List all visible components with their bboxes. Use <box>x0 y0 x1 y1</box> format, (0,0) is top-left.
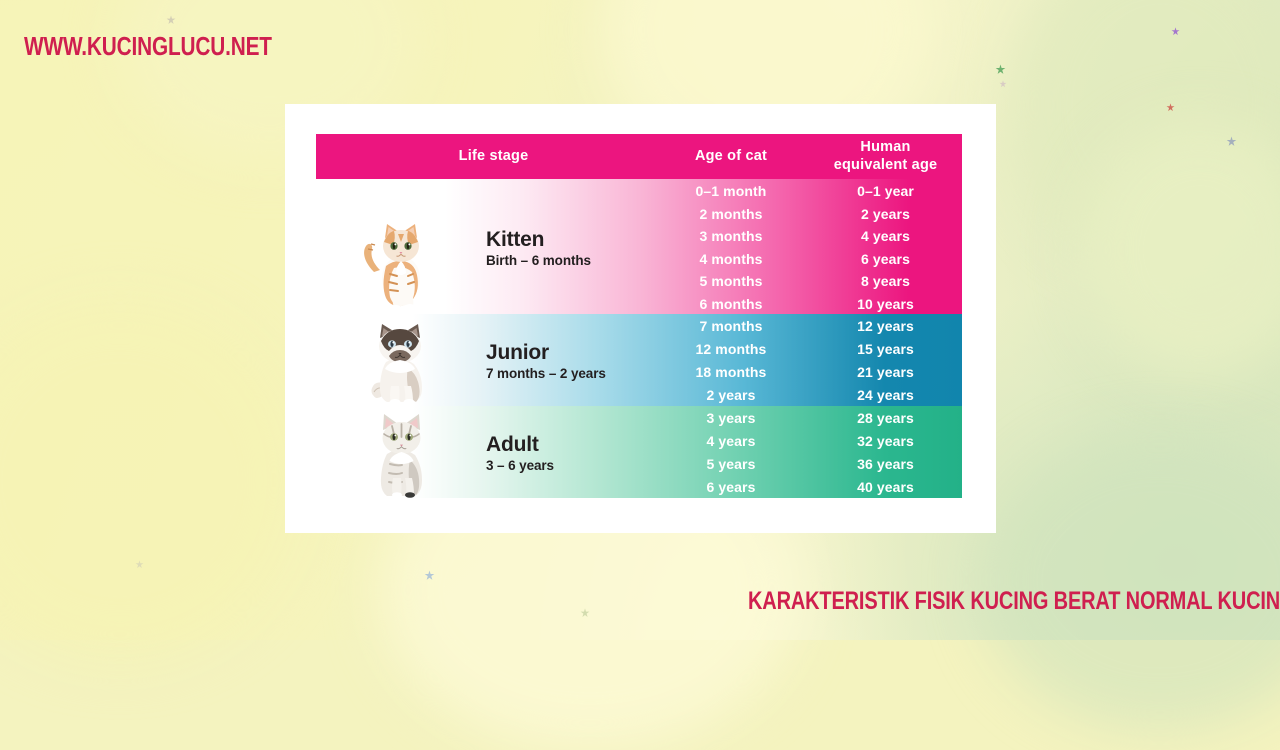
life-stage-cell: Adult 3 – 6 years <box>316 406 653 498</box>
human-equivalent-age-value: 40 years <box>809 476 962 498</box>
table-group-junior: Junior 7 months – 2 years 7 months12 mon… <box>316 314 962 406</box>
human-equivalent-age-value: 21 years <box>809 361 962 384</box>
column-header-age-of-cat: Age of cat <box>653 148 809 165</box>
orange-tabby-kitten-standing-icon <box>360 216 438 312</box>
sparkle-star-icon <box>1171 27 1180 36</box>
sparkle-star-icon <box>424 570 435 581</box>
age-of-cat-value: 3 months <box>653 225 809 248</box>
life-stage-text: Adult 3 – 6 years <box>486 434 554 473</box>
ragdoll-colorpoint-cat-sitting-icon <box>364 316 438 406</box>
life-stage-range: Birth – 6 months <box>486 253 591 268</box>
age-of-cat-value: 4 years <box>653 430 809 453</box>
column-header-line: Human <box>809 139 962 156</box>
life-stage-text: Junior 7 months – 2 years <box>486 342 606 381</box>
site-watermark-top: WWW.KUCINGLUCU.NET <box>24 31 272 62</box>
human-equivalent-age-value: 6 years <box>809 248 962 271</box>
life-stage-range: 3 – 6 years <box>486 458 554 473</box>
sparkle-star-icon <box>995 64 1006 75</box>
table-group-kitten: Kitten Birth – 6 months 0–1 month2 month… <box>316 179 962 314</box>
age-of-cat-value: 6 years <box>653 476 809 498</box>
human-equivalent-age-value: 4 years <box>809 225 962 248</box>
human-equivalent-age-value: 24 years <box>809 384 962 407</box>
age-of-cat-value: 5 years <box>653 453 809 476</box>
table-group-adult: Adult 3 – 6 years 3 years4 years5 years6… <box>316 406 962 498</box>
human-equivalent-age-value: 10 years <box>809 293 962 316</box>
age-of-cat-value: 12 months <box>653 338 809 361</box>
column-header-line: equivalent age <box>809 157 962 174</box>
age-of-cat-value: 5 months <box>653 270 809 293</box>
life-stage-cell: Junior 7 months – 2 years <box>316 314 653 406</box>
human-equivalent-age-value: 28 years <box>809 407 962 430</box>
age-of-cat-value: 18 months <box>653 361 809 384</box>
sparkle-star-icon <box>135 560 144 569</box>
sparkle-star-icon <box>580 608 590 618</box>
age-of-cat-value: 2 months <box>653 203 809 226</box>
sparkle-star-icon <box>1166 103 1175 112</box>
sparkle-star-icon <box>1226 136 1237 147</box>
age-of-cat-value: 2 years <box>653 384 809 407</box>
human-equivalent-age-value: 36 years <box>809 453 962 476</box>
background-blob <box>980 430 1280 730</box>
age-of-cat-value: 3 years <box>653 407 809 430</box>
life-stage-range: 7 months – 2 years <box>486 366 606 381</box>
sparkle-star-icon <box>999 80 1007 88</box>
age-of-cat-column: 0–1 month2 months3 months4 months5 month… <box>653 179 809 314</box>
silver-tabby-cat-sitting-icon <box>370 406 434 498</box>
column-header-life-stage: Life stage <box>316 148 653 165</box>
human-equivalent-age-column: 28 years32 years36 years40 years <box>809 406 962 498</box>
human-equivalent-age-column: 0–1 year2 years4 years6 years8 years10 y… <box>809 179 962 314</box>
article-title-watermark: KARAKTERISTIK FISIK KUCING BERAT NORMAL … <box>748 587 1280 616</box>
human-equivalent-age-value: 8 years <box>809 270 962 293</box>
age-of-cat-column: 3 years4 years5 years6 years <box>653 406 809 498</box>
human-equivalent-age-value: 15 years <box>809 338 962 361</box>
human-equivalent-age-column: 12 years15 years21 years24 years <box>809 314 962 406</box>
human-equivalent-age-value: 12 years <box>809 315 962 338</box>
life-stage-name: Junior <box>486 342 606 364</box>
age-of-cat-value: 4 months <box>653 248 809 271</box>
life-stage-name: Adult <box>486 434 554 456</box>
human-equivalent-age-value: 32 years <box>809 430 962 453</box>
age-of-cat-value: 7 months <box>653 315 809 338</box>
background-blob <box>0 300 300 660</box>
cat-age-table: Life stage Age of cat Humanequivalent ag… <box>316 134 962 498</box>
life-stage-text: Kitten Birth – 6 months <box>486 229 591 268</box>
human-equivalent-age-value: 0–1 year <box>809 180 962 203</box>
age-of-cat-value: 0–1 month <box>653 180 809 203</box>
sparkle-star-icon <box>166 15 176 25</box>
life-stage-name: Kitten <box>486 229 591 251</box>
human-equivalent-age-value: 2 years <box>809 203 962 226</box>
age-of-cat-value: 6 months <box>653 293 809 316</box>
infographic-card: Life stage Age of cat Humanequivalent ag… <box>285 104 996 533</box>
age-of-cat-column: 7 months12 months18 months2 years <box>653 314 809 406</box>
column-header-human-equivalent-age: Humanequivalent age <box>809 139 962 173</box>
table-header-row: Life stage Age of cat Humanequivalent ag… <box>316 134 962 179</box>
life-stage-cell: Kitten Birth – 6 months <box>316 179 653 314</box>
